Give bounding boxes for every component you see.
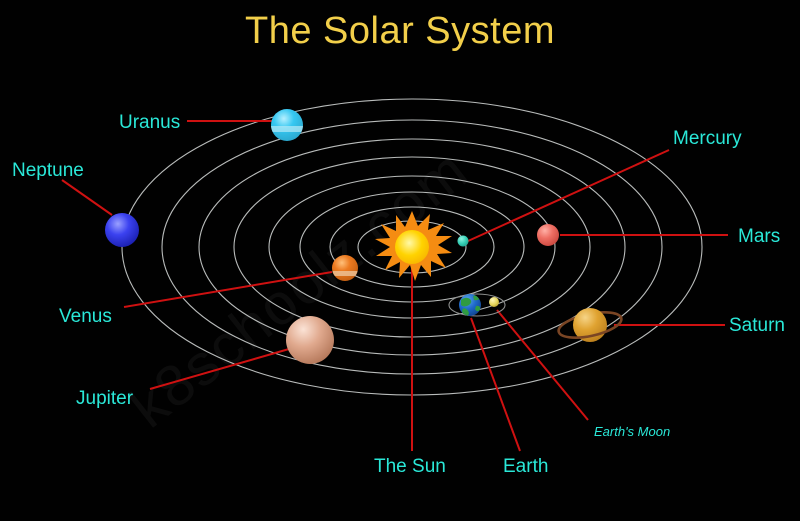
label-venus: Venus (59, 306, 112, 327)
planet-jupiter (286, 316, 334, 364)
planet-mars (537, 224, 559, 246)
label-jupiter: Jupiter (76, 388, 134, 409)
neptune-body (105, 213, 139, 247)
label-mercury: Mercury (673, 128, 742, 149)
label-mars: Mars (738, 226, 780, 247)
solar-system-canvas: k8schoolz.com The Solar System (0, 0, 800, 521)
label-neptune: Neptune (12, 160, 84, 181)
sun-core (395, 230, 429, 264)
planet-neptune (105, 213, 139, 247)
page-title: The Solar System (245, 10, 555, 52)
label-earth: Earth (503, 456, 548, 477)
label-saturn: Saturn (729, 315, 785, 336)
mars-body (537, 224, 559, 246)
uranus-band (271, 126, 303, 132)
jupiter-body (286, 316, 334, 364)
uranus-body (271, 109, 303, 141)
mercury-body (458, 236, 469, 247)
planet-venus (332, 255, 358, 281)
planet-mercury (458, 236, 469, 247)
planet-uranus (271, 109, 303, 141)
label-uranus: Uranus (119, 112, 180, 133)
venus-body (332, 255, 358, 281)
moon-body (489, 297, 499, 307)
earths-moon (489, 297, 499, 307)
venus-band (332, 271, 358, 276)
solar-system-figure: k8schoolz.com The Solar System (0, 0, 800, 521)
label-earths-moon: Earth's Moon (594, 424, 670, 439)
label-sun: The Sun (374, 456, 446, 477)
